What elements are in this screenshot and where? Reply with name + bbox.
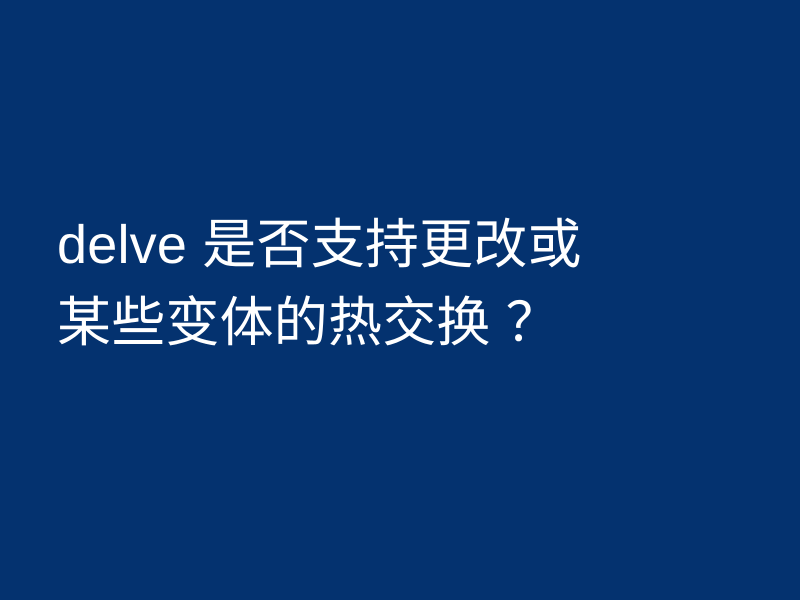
headline-line-2: 某些变体的热交换 ？ (57, 284, 757, 362)
headline-text-block: delve 是否支持更改或 某些变体的热交换 ？ (57, 206, 757, 362)
slide-canvas: delve 是否支持更改或 某些变体的热交换 ？ (0, 0, 800, 600)
headline-line-1: delve 是否支持更改或 (57, 206, 757, 284)
